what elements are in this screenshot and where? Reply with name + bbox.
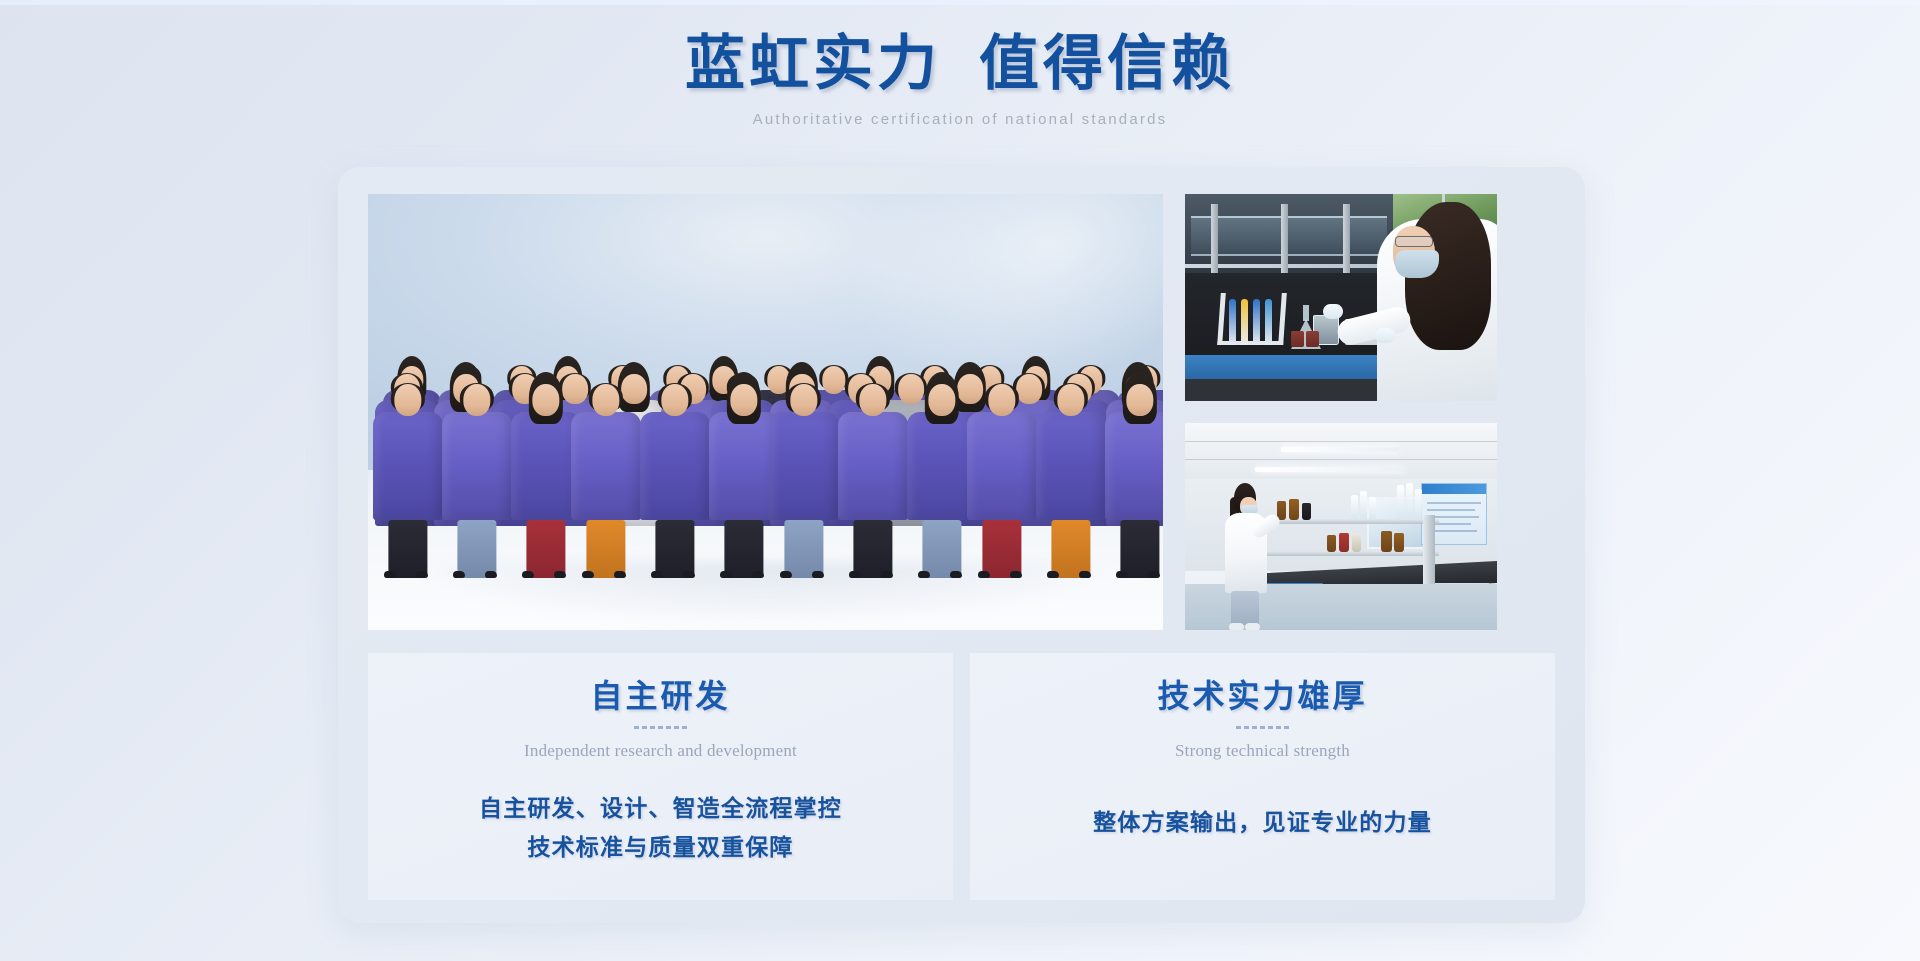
person-legs: [457, 520, 496, 578]
ceiling-light: [1255, 467, 1405, 472]
person-head: [532, 384, 559, 416]
person-work-jacket: [571, 412, 641, 520]
person-shoe: [752, 571, 764, 578]
graduated-cylinder: [1415, 489, 1422, 519]
researcher-shoe: [1229, 623, 1244, 630]
card-title: 自主研发: [392, 675, 929, 717]
person-shoe: [1148, 571, 1160, 578]
laboratory-room-photo: [1185, 423, 1497, 630]
graduated-cylinder: [1351, 495, 1358, 519]
page-title: 蓝虹实力 值得信赖: [0, 28, 1920, 100]
group-photo-person: [769, 377, 839, 578]
person-work-jacket: [1036, 412, 1106, 520]
person-shoe: [978, 571, 990, 578]
person-legs: [922, 520, 961, 578]
reagent-bottle: [1352, 535, 1361, 552]
person-legs: [1051, 520, 1090, 578]
pipette: [1229, 299, 1236, 345]
person-work-jacket: [442, 412, 512, 520]
ceiling-grid-line: [1185, 441, 1497, 442]
pipette-rack: [1217, 293, 1287, 345]
graduated-cylinder: [1406, 483, 1413, 519]
person-legs: [526, 520, 565, 578]
ceiling-grid-line: [1185, 459, 1497, 460]
pipette: [1253, 299, 1260, 345]
person-shoe: [614, 571, 626, 578]
person-shoe: [849, 571, 861, 578]
poster-text-line: [1427, 502, 1481, 504]
graduated-cylinder: [1369, 497, 1376, 519]
card-body-text: 整体方案输出，见证专业的力量: [994, 803, 1531, 842]
person-work-jacket: [640, 412, 710, 520]
page-header: 蓝虹实力 值得信赖 Authoritative certification of…: [0, 28, 1920, 130]
person-shoe: [416, 571, 428, 578]
ceiling-light: [1281, 447, 1399, 452]
content-panel: 自主研发 Independent research and developmen…: [338, 167, 1585, 923]
person-head: [1057, 384, 1084, 416]
reagent-bottle: [1327, 535, 1336, 552]
researcher-jeans: [1231, 591, 1259, 625]
feature-card-row: 自主研发 Independent research and developmen…: [368, 653, 1555, 900]
person-shoe: [950, 571, 962, 578]
gloved-hand: [1323, 304, 1343, 319]
dashed-divider: [1236, 726, 1290, 729]
group-photo-person: [838, 377, 908, 578]
person-shoe: [485, 571, 497, 578]
lab-researcher: [1223, 483, 1271, 630]
person-legs: [784, 520, 823, 578]
person-shoe: [720, 571, 732, 578]
person-shoe: [812, 571, 824, 578]
person-head: [790, 384, 817, 416]
lab-scene-bench: [1185, 194, 1497, 401]
group-photo-person: [967, 377, 1037, 578]
person-shoe: [582, 571, 594, 578]
person-shoe: [918, 571, 930, 578]
reagent-bottle: [1302, 503, 1311, 520]
poster-text-line: [1427, 509, 1475, 511]
reagent-shelf: [1191, 216, 1387, 256]
group-photo-person: [373, 377, 443, 578]
person-legs: [853, 520, 892, 578]
photo-gallery: [368, 194, 1555, 630]
reagent-bottle: [1339, 533, 1349, 552]
person-work-jacket: [967, 412, 1037, 520]
company-group-photo: [368, 194, 1163, 630]
side-photo-column: [1185, 194, 1497, 630]
gloved-hand: [1375, 328, 1395, 343]
person-head: [988, 384, 1015, 416]
reagent-bottle: [1394, 533, 1404, 552]
feature-card-technical-strength[interactable]: 技术实力雄厚 Strong technical strength 整体方案输出，…: [970, 653, 1555, 900]
person-shoe: [683, 571, 695, 578]
card-english-subtitle: Independent research and development: [392, 739, 929, 763]
person-shoe: [1079, 571, 1091, 578]
flask-neck: [1303, 305, 1309, 321]
group-photo-person: [571, 377, 641, 578]
reagent-bottle: [1381, 531, 1392, 552]
card-english-subtitle: Strong technical strength: [994, 739, 1531, 763]
group-photo-person: [640, 377, 710, 578]
person-head: [1126, 384, 1153, 416]
card-title: 技术实力雄厚: [994, 675, 1531, 717]
person-head: [661, 384, 688, 416]
person-work-jacket: [1105, 412, 1163, 520]
card-body-text: 自主研发、设计、智造全流程掌控 技术标准与质量双重保障: [392, 789, 929, 867]
brown-vial: [1306, 331, 1319, 347]
technician-safety-glasses: [1395, 236, 1433, 247]
technician-face-mask: [1395, 250, 1439, 278]
person-legs: [982, 520, 1021, 578]
person-shoe: [554, 571, 566, 578]
person-head: [859, 384, 886, 416]
dashed-divider: [634, 726, 688, 729]
group-photo-person: [1105, 377, 1163, 578]
person-shoe: [1116, 571, 1128, 578]
person-head: [463, 384, 490, 416]
person-shoe: [522, 571, 534, 578]
person-legs: [388, 520, 427, 578]
person-work-jacket: [769, 412, 839, 520]
employee-group: [368, 194, 1163, 630]
person-head: [394, 384, 421, 416]
poster-header-band: [1422, 484, 1486, 494]
person-shoe: [453, 571, 465, 578]
person-shoe: [1010, 571, 1022, 578]
feature-card-independent-rd[interactable]: 自主研发 Independent research and developmen…: [368, 653, 953, 900]
person-head: [730, 384, 757, 416]
group-photo-person: [442, 377, 512, 578]
reagent-bottle: [1289, 499, 1299, 520]
person-legs: [1120, 520, 1159, 578]
person-shoe: [881, 571, 893, 578]
person-work-jacket: [838, 412, 908, 520]
person-shoe: [1047, 571, 1059, 578]
researcher-shoe: [1245, 623, 1260, 630]
person-work-jacket: [373, 412, 443, 520]
person-head: [592, 384, 619, 416]
person-head: [928, 384, 955, 416]
lab-scene-room: [1185, 423, 1497, 630]
top-edge-sheen: [0, 0, 1920, 5]
group-photo-person: [1036, 377, 1106, 578]
person-shoe: [384, 571, 396, 578]
brown-vial: [1291, 331, 1304, 347]
lab-technician-pipetting-photo: [1185, 194, 1497, 401]
person-legs: [724, 520, 763, 578]
person-legs: [586, 520, 625, 578]
person-legs: [655, 520, 694, 578]
person-shoe: [780, 571, 792, 578]
pipette: [1265, 299, 1272, 345]
page-subtitle: Authoritative certification of national …: [0, 110, 1920, 130]
pipette: [1241, 299, 1248, 345]
graduated-cylinder: [1397, 485, 1404, 519]
person-shoe: [651, 571, 663, 578]
graduated-cylinder: [1360, 491, 1367, 519]
